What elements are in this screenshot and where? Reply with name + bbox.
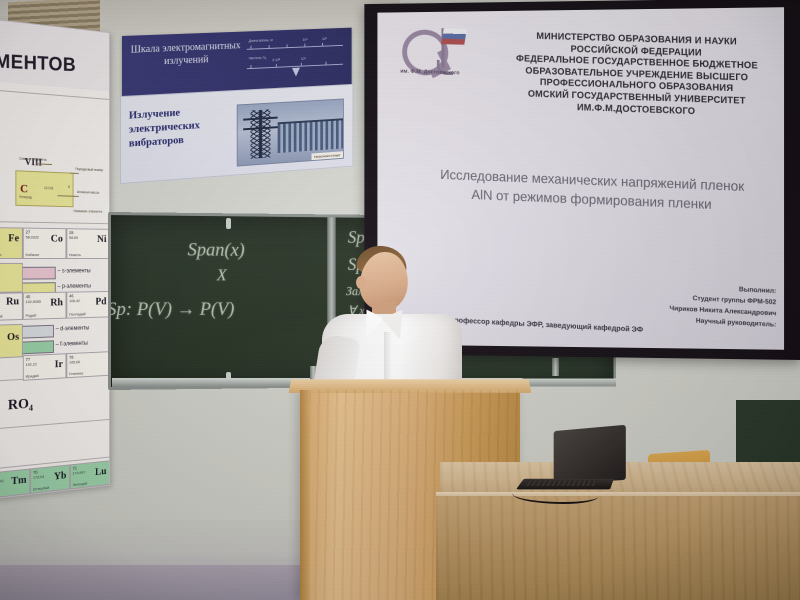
table-wood-grain xyxy=(436,496,800,600)
chart-axis-frequency-label: Частота, Гц xyxy=(249,56,267,61)
pt-element-cell: Os Осмий xyxy=(0,324,23,359)
power-line-photo: Низкочастотные xyxy=(237,98,344,166)
lecture-hall-photo: ЕМЕНТОВ VIII C 12,011 6 Углерод Символ э… xyxy=(0,0,800,600)
pt-label-number: Порядковый номер xyxy=(75,167,103,172)
chart-spectrum-marker xyxy=(292,68,300,77)
pt-annotation-name: Углерод xyxy=(19,195,31,199)
russian-flag-icon xyxy=(441,28,467,44)
slide-ministry-header: МИНИСТЕРСТВО ОБРАЗОВАНИЯ И НАУКИ РОССИЙС… xyxy=(491,30,784,121)
periodic-table-title: ЕМЕНТОВ xyxy=(0,50,110,79)
pt-annotation-card: C 12,011 6 Углерод xyxy=(15,170,73,207)
pt-element-symbol: Fe xyxy=(8,232,19,244)
pt-element-mass: 173,04 xyxy=(33,474,44,480)
pt-element-mass: 102,9055 xyxy=(26,299,41,304)
university-logo: им. Ф.М. Достоевского xyxy=(400,23,483,83)
electric-vibrators-banner: Излучение электрических вибраторов Низко… xyxy=(120,84,353,184)
em-spectrum-title: Шкала электромагнитных излучений xyxy=(130,39,242,69)
podium-left-edge xyxy=(300,390,310,600)
chart-tick-label: 10⁴ xyxy=(303,38,308,42)
pt-label-mass: Атомная масса xyxy=(77,190,99,195)
pt-element-name: Иридий xyxy=(26,373,39,379)
chart-tick xyxy=(322,43,323,47)
pt-legend-label-f: – f-элементы xyxy=(56,341,88,348)
pt-annotation-mass: 12,011 xyxy=(44,186,54,190)
periodic-table-sheet: VIII C 12,011 6 Углерод Символ элемента … xyxy=(0,81,109,499)
pt-element-cell: 46 106,42 Pd Палладий xyxy=(66,291,109,319)
pt-element-mass: 174,967 xyxy=(73,470,86,476)
pt-label-name: Название элемента xyxy=(74,209,103,213)
pt-element-cell: Ru Рутений xyxy=(0,292,23,321)
pt-element-mass: 195,08 xyxy=(69,359,80,364)
pt-element-name: Железо xyxy=(0,252,1,257)
pt-element-mass: 168,9342 xyxy=(0,478,4,485)
chart-axis-line xyxy=(247,45,343,50)
pt-element-symbol: Yb xyxy=(54,470,67,483)
electric-vibrators-title: Излучение электрических вибраторов xyxy=(129,103,233,151)
chart-tick xyxy=(269,45,270,49)
pt-legend-label-s: – s-элементы xyxy=(57,268,90,274)
pt-element-symbol: Co xyxy=(51,233,63,245)
pt-element-name: Палладий xyxy=(69,311,86,316)
pt-element-name: Платина xyxy=(69,371,83,377)
pt-divider xyxy=(0,89,109,100)
chart-tick xyxy=(326,62,327,66)
pt-legend-label-p: – p-элементы xyxy=(57,284,90,290)
dam-structure xyxy=(278,118,343,153)
pt-element-symbol: Tm xyxy=(11,474,26,487)
pt-element-mass: 58,9332 xyxy=(26,234,39,239)
presenter-ear xyxy=(356,276,366,289)
pt-element-mass: 58,69 xyxy=(69,235,78,240)
chalk-note: Sp: P(V) → P(V) xyxy=(108,299,234,321)
pt-element-cell: 71 174,967 Lu Лютеций xyxy=(70,460,110,489)
chart-tick xyxy=(276,64,277,68)
pt-divider xyxy=(0,419,109,430)
pt-element-cell: 44 101,07 xyxy=(0,263,23,293)
pt-element-mass: 192,22 xyxy=(26,361,37,366)
periodic-table-poster: ЕМЕНТОВ VIII C 12,011 6 Углерод Символ э… xyxy=(0,18,110,500)
floor-strip xyxy=(0,565,340,600)
pt-element-cell: 78 195,08 Платина xyxy=(66,351,109,378)
pt-element-symbol: Ir xyxy=(55,358,63,370)
chart-tick-label: 10⁸ xyxy=(301,57,306,61)
wall-banner-group: Шкала электромагнитных излучений Длина в… xyxy=(122,16,352,204)
pt-element-symbol: Rh xyxy=(50,297,63,309)
pt-divider xyxy=(0,221,109,224)
pt-label-symbol: Символ элемента xyxy=(19,157,46,162)
pt-oxide-formula: RO₄ xyxy=(8,396,33,415)
pt-element-symbol: Os xyxy=(7,331,19,343)
chalk-note: Span(x) xyxy=(188,240,245,262)
pt-element-name: Кобальт xyxy=(26,252,40,257)
pt-element-cell: 26 55,847 Fe Железо xyxy=(0,227,23,259)
chalk-note: X xyxy=(217,265,227,285)
pt-annotation-symbol: C xyxy=(20,181,28,196)
pt-element-name: Никель xyxy=(69,252,81,257)
chart-tick xyxy=(250,46,251,50)
em-spectrum-chart: Длина волны, м 10⁴ 10⁶ Частота, Гц 3·10⁸… xyxy=(245,35,345,83)
chart-tick-label: 10⁶ xyxy=(322,37,327,41)
pt-element-symbol: Ru xyxy=(6,295,19,307)
pt-element-cell: 45 102,9055 Rh Родий xyxy=(23,292,67,320)
pt-element-symbol: Lu xyxy=(95,465,107,478)
slide-title: Исследование механических напряжений пле… xyxy=(416,164,771,216)
chart-tick xyxy=(287,44,288,48)
pt-element-cell: 28 58,69 Ni Никель xyxy=(66,228,109,259)
pt-element-name: Иттербий xyxy=(33,485,49,492)
pt-element-name: Родий xyxy=(26,313,37,318)
pt-element-symbol: Ni xyxy=(97,233,106,244)
pt-element-cell: 77 192,22 Ir Иридий xyxy=(23,353,67,381)
pt-element-symbol: Pd xyxy=(95,296,106,308)
pt-annotation-number: 6 xyxy=(68,185,70,189)
chart-tick xyxy=(301,63,302,67)
pt-legend-label-d: – d-элементы xyxy=(56,326,90,333)
pt-element-mass: 106,42 xyxy=(69,298,80,303)
chart-tick-label: 3·10⁸ xyxy=(272,58,280,62)
chart-tick xyxy=(250,65,251,69)
pt-element-cell: 70 173,04 Yb Иттербий xyxy=(30,464,70,494)
pt-element-name: Лютеций xyxy=(73,481,87,487)
blackboard-mount xyxy=(552,358,559,376)
blackboard-bolt xyxy=(226,218,231,229)
pt-element-cell: 27 58,9332 Co Кобальт xyxy=(23,228,67,259)
chart-axis-wavelength-label: Длина волны, м xyxy=(249,38,273,43)
power-line-caption: Низкочастотные xyxy=(311,151,343,160)
laptop-screen-lid[interactable] xyxy=(554,425,626,484)
pt-element-cell: 69 168,9342 Tm Тулий xyxy=(0,468,30,499)
pt-element-name: Рутений xyxy=(0,314,3,319)
chart-tick xyxy=(304,44,305,48)
logo-subtitle: им. Ф.М. Достоевского xyxy=(400,69,459,77)
table-front-panel xyxy=(436,496,800,600)
